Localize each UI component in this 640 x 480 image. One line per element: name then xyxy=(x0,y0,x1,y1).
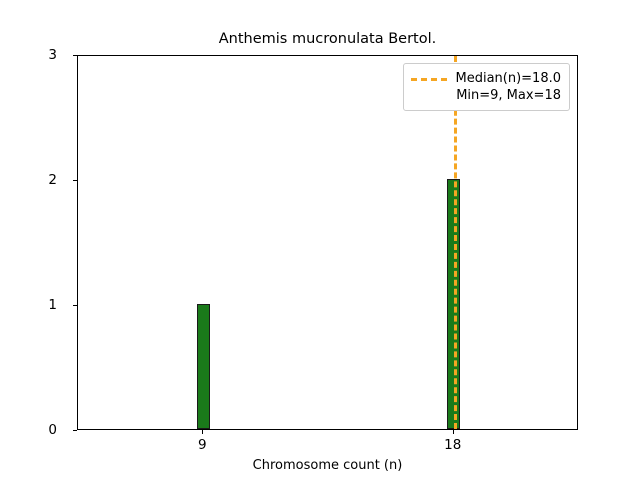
bar xyxy=(197,304,210,429)
x-tick-label: 9 xyxy=(198,437,207,453)
legend-entry-minmax: Min=9, Max=18 xyxy=(456,88,561,103)
y-tick-mark xyxy=(73,55,77,56)
median-line-legend-icon xyxy=(411,70,447,86)
y-tick-mark xyxy=(73,305,77,306)
x-axis-label: Chromosome count (n) xyxy=(77,458,578,473)
x-tick-mark xyxy=(202,430,203,434)
chart-legend: Median(n)=18.0 Min=9, Max=18 xyxy=(403,63,570,111)
y-tick-label: 0 xyxy=(48,422,57,438)
y-tick-mark xyxy=(73,430,77,431)
y-tick-mark xyxy=(73,180,77,181)
y-tick-label: 1 xyxy=(48,297,57,313)
legend-entry-median: Median(n)=18.0 xyxy=(455,71,561,86)
median-line xyxy=(454,56,457,429)
y-tick-label: 3 xyxy=(48,47,57,63)
legend-text: Median(n)=18.0 Min=9, Max=18 xyxy=(455,70,561,104)
chart-title: Anthemis mucronulata Bertol. xyxy=(77,30,578,48)
plot-area: Median(n)=18.0 Min=9, Max=18 xyxy=(77,55,578,430)
data-layer xyxy=(78,56,577,429)
x-tick-mark xyxy=(453,430,454,434)
y-tick-label: 2 xyxy=(48,172,57,188)
chart-figure: Anthemis mucronulata Bertol. Num of coun… xyxy=(0,0,640,480)
x-tick-label: 18 xyxy=(444,437,461,453)
